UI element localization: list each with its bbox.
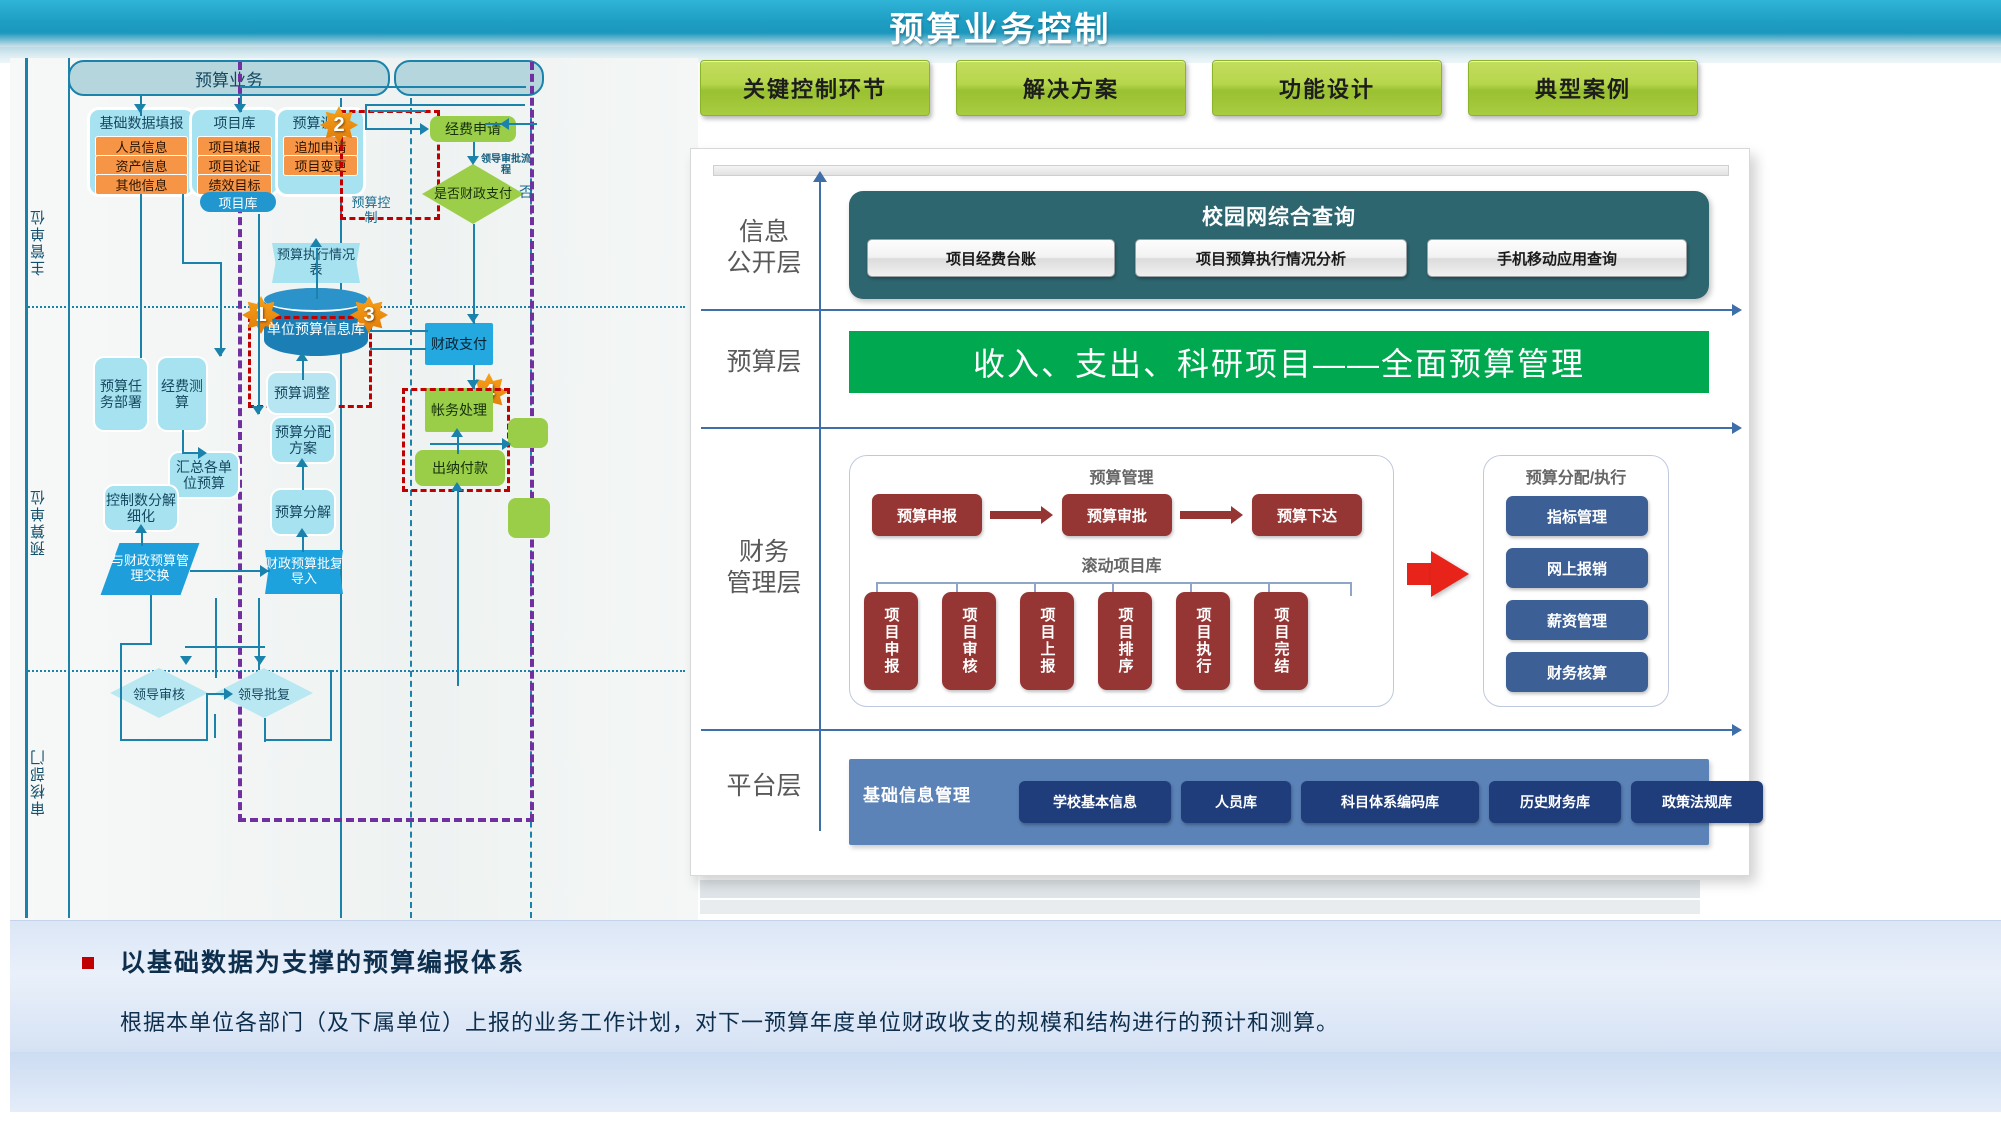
node-budget-database-label: 单位预算信息库 xyxy=(267,307,365,337)
label-no-branch: 否 xyxy=(515,184,537,200)
conn-h-11 xyxy=(370,348,426,350)
caption-tail xyxy=(10,1052,2001,1112)
conn-h-12 xyxy=(185,646,265,648)
conn-h-8 xyxy=(120,643,152,645)
arrow-18 xyxy=(310,238,322,247)
platform-title: 基础信息管理 xyxy=(863,781,971,806)
conn-v-28 xyxy=(214,714,216,738)
layer-label-platform: 平台层 xyxy=(711,771,817,802)
arrow-14 xyxy=(260,565,269,577)
page-banner: 预算业务控制 xyxy=(0,0,2001,47)
conn-v-8 xyxy=(457,486,459,686)
pill-project-library[interactable]: 项目库 xyxy=(200,192,276,212)
arrow-7 xyxy=(451,428,463,437)
btn-school-basic-info[interactable]: 学校基本信息 xyxy=(1019,781,1171,823)
layer-label-info-public: 信息公开层 xyxy=(711,217,817,280)
campus-query-card: 校园网综合查询 项目经费台账 项目预算执行情况分析 手机移动应用查询 xyxy=(849,191,1709,299)
arrow-1 xyxy=(134,104,146,113)
label-budget-control: 预算控制 xyxy=(346,196,396,226)
conn-h-16 xyxy=(370,110,426,112)
btn-subject-code-db[interactable]: 科目体系编码库 xyxy=(1301,781,1479,823)
conn-v-3 xyxy=(365,104,367,130)
horizontal-scrollbar[interactable] xyxy=(713,165,1729,176)
conn-h-1 xyxy=(140,94,240,96)
project-stage-submit[interactable]: 项目上报 xyxy=(1020,592,1074,690)
group-project-library: 项目库 项目填报 项目论证 绩效目标 xyxy=(192,110,277,194)
nav-button-solution[interactable]: 解决方案 xyxy=(956,60,1186,116)
btn-financial-acct[interactable]: 财务核算 xyxy=(1506,652,1648,692)
nav-button-key-control[interactable]: 关键控制环节 xyxy=(700,60,930,116)
swimlane-label-divider xyxy=(68,58,70,918)
item-personnel-info[interactable]: 人员信息 xyxy=(95,136,188,157)
btn-history-finance-db[interactable]: 历史财务库 xyxy=(1489,781,1621,823)
btn-policy-regulation-db[interactable]: 政策法规库 xyxy=(1631,781,1763,823)
stage-budget-approve[interactable]: 预算审批 xyxy=(1062,494,1172,536)
group-basic-data: 基础数据填报 人员信息 资产信息 其他信息 xyxy=(90,110,193,194)
node-fiscal-payment[interactable]: 财政支付 xyxy=(425,323,493,365)
swimlane-label-1: 预算单位 xyxy=(28,488,60,556)
conn-v-5 xyxy=(473,224,475,324)
bg-strip-2 xyxy=(700,900,1700,914)
caption-body: 根据本单位各部门（及下属单位）上报的业务工作计划，对下一预算年度单位财政收支的规… xyxy=(120,1005,1339,1037)
node-fiscal-exchange-label: 与财政预算管理交换 xyxy=(110,554,190,584)
arrow-4 xyxy=(467,156,479,165)
conn-h-2 xyxy=(240,86,526,88)
arrow-11 xyxy=(198,447,207,459)
conn-h-10 xyxy=(370,330,428,332)
conn-v-13 xyxy=(258,214,260,414)
conn-v-22 xyxy=(215,598,217,678)
conn-h-3 xyxy=(365,104,525,106)
btn-personnel-db[interactable]: 人员库 xyxy=(1181,781,1291,823)
budget-mgmt-band: 收入、支出、科研项目——全面预算管理 xyxy=(849,331,1709,393)
arrow-15 xyxy=(296,458,308,467)
conn-v-24 xyxy=(120,693,122,741)
swimlane-label-2: 审核部门 xyxy=(28,748,60,816)
btn-indicator-mgmt[interactable]: 指标管理 xyxy=(1506,496,1648,536)
arrow-8 xyxy=(451,482,463,491)
arrow-2 xyxy=(234,104,246,113)
caption-panel: 以基础数据为支撑的预算编报体系 根据本单位各部门（及下属单位）上报的业务工作计划… xyxy=(10,920,2001,1052)
conn-h-6 xyxy=(182,262,222,264)
conn-v-10 xyxy=(182,194,184,264)
conn-v-12 xyxy=(182,430,184,454)
layer-label-finance: 财务管理层 xyxy=(711,537,817,600)
arrow-16 xyxy=(296,528,308,537)
layer-separator-3 xyxy=(701,729,1733,731)
budget-alloc-caption: 预算分配/执行 xyxy=(1484,464,1668,488)
arrow-10 xyxy=(214,348,226,357)
budget-management-panel: 预算管理 预算申报 预算审批 预算下达 滚动项目库 项目申报 项目审核 项目上报… xyxy=(849,455,1394,707)
platform-bar: 基础信息管理 学校基本信息 人员库 科目体系编码库 历史财务库 政策法规库 xyxy=(849,759,1709,845)
transition-arrow-head xyxy=(1431,551,1469,597)
node-allocation-plan[interactable]: 预算分配方案 xyxy=(272,418,334,462)
arrow-20 xyxy=(254,656,266,665)
btn-mobile-query[interactable]: 手机移动应用查询 xyxy=(1427,239,1687,277)
architecture-canvas: 信息公开层 预算层 财务管理层 平台层 校园网综合查询 项目经费台账 项目预算执… xyxy=(701,159,1739,867)
bg-strip-1 xyxy=(700,880,1700,898)
transition-arrow-tail xyxy=(1407,563,1433,585)
node-budget-task[interactable]: 预算任务部署 xyxy=(95,358,147,430)
group-project-library-title: 项目库 xyxy=(192,110,277,136)
node-green-right-1[interactable] xyxy=(508,418,548,448)
arrow-flow-2 xyxy=(1180,511,1232,519)
nav-button-function-design[interactable]: 功能设计 xyxy=(1212,60,1442,116)
arrow-9 xyxy=(502,438,511,450)
project-stage-declare[interactable]: 项目申报 xyxy=(864,592,918,690)
arrow-22 xyxy=(500,118,509,130)
nav-button-bar: 关键控制环节 解决方案 功能设计 典型案例 xyxy=(700,60,1740,120)
budget-flowchart: 主管单位 预算单位 审核部门 预算业务 基础数据填报 人员信息 资产信息 其他信… xyxy=(10,58,698,926)
btn-budget-exec-analysis[interactable]: 项目预算执行情况分析 xyxy=(1135,239,1407,277)
node-fiscal-approval-import[interactable]: 财政预算批复导入 xyxy=(265,550,343,594)
project-stage-complete[interactable]: 项目完结 xyxy=(1254,592,1308,690)
project-stage-execute[interactable]: 项目执行 xyxy=(1176,592,1230,690)
budget-management-caption: 预算管理 xyxy=(850,464,1393,488)
conn-v-19 xyxy=(302,358,304,380)
conn-v-25 xyxy=(206,693,208,741)
arrow-flow-1 xyxy=(990,511,1042,519)
node-green-right-2[interactable] xyxy=(508,498,550,538)
conn-v-15 xyxy=(150,595,152,645)
conn-h-17 xyxy=(485,123,537,125)
architecture-diagram: 信息公开层 预算层 财务管理层 平台层 校园网综合查询 项目经费台账 项目预算执… xyxy=(690,148,1750,876)
arrow-3 xyxy=(420,123,429,135)
conn-h-4 xyxy=(365,128,425,130)
caption-heading: 以基础数据为支撑的预算编报体系 xyxy=(120,943,525,979)
conn-v-11 xyxy=(220,262,222,356)
budget-alloc-panel: 预算分配/执行 指标管理 网上报销 薪资管理 财务核算 xyxy=(1483,455,1669,707)
conn-h-5 xyxy=(430,443,508,445)
conn-v-16 xyxy=(120,643,122,693)
arrow-21 xyxy=(224,688,233,700)
conn-v-27 xyxy=(330,670,332,740)
item-project-report[interactable]: 项目填报 xyxy=(197,136,272,157)
layer-separator-2 xyxy=(701,427,1733,429)
rolling-project-caption: 滚动项目库 xyxy=(850,552,1393,576)
vertical-axis xyxy=(819,181,821,831)
stage-budget-issue[interactable]: 预算下达 xyxy=(1252,494,1362,536)
btn-project-fund-ledger[interactable]: 项目经费台账 xyxy=(867,239,1115,277)
arrow-6 xyxy=(467,380,479,389)
node-summary-budget[interactable]: 汇总各单位预算 xyxy=(170,453,238,497)
item-project-argument[interactable]: 项目论证 xyxy=(197,155,272,176)
nav-button-case-study[interactable]: 典型案例 xyxy=(1468,60,1698,116)
stage-budget-declare[interactable]: 预算申报 xyxy=(872,494,982,536)
btn-salary-mgmt[interactable]: 薪资管理 xyxy=(1506,600,1648,640)
swimlane-label-0: 主管单位 xyxy=(28,208,60,276)
project-stage-review[interactable]: 项目审核 xyxy=(942,592,996,690)
btn-online-reimburse[interactable]: 网上报销 xyxy=(1506,548,1648,588)
arrow-17 xyxy=(296,352,308,361)
conn-v-21 xyxy=(316,248,318,290)
item-asset-info[interactable]: 资产信息 xyxy=(95,155,188,176)
conn-h-9 xyxy=(190,570,270,572)
layer-separator-1 xyxy=(701,309,1733,311)
layer-label-budget: 预算层 xyxy=(711,347,817,378)
campus-query-title: 校园网综合查询 xyxy=(849,201,1709,231)
project-stage-rank[interactable]: 项目排序 xyxy=(1098,592,1152,690)
node-fee-calculation[interactable]: 经费测算 xyxy=(158,358,206,430)
arrow-5 xyxy=(467,314,479,323)
conn-v-9 xyxy=(140,194,142,358)
conn-h-14 xyxy=(120,739,208,741)
arrow-19 xyxy=(180,656,192,665)
payment-highlight xyxy=(402,388,510,492)
arrow-12 xyxy=(252,406,264,415)
page-title: 预算业务控制 xyxy=(0,2,2001,51)
conn-h-15 xyxy=(264,739,332,741)
item-other-info[interactable]: 其他信息 xyxy=(95,174,188,195)
bullet-square-icon xyxy=(82,957,94,969)
arrow-13 xyxy=(135,524,147,533)
